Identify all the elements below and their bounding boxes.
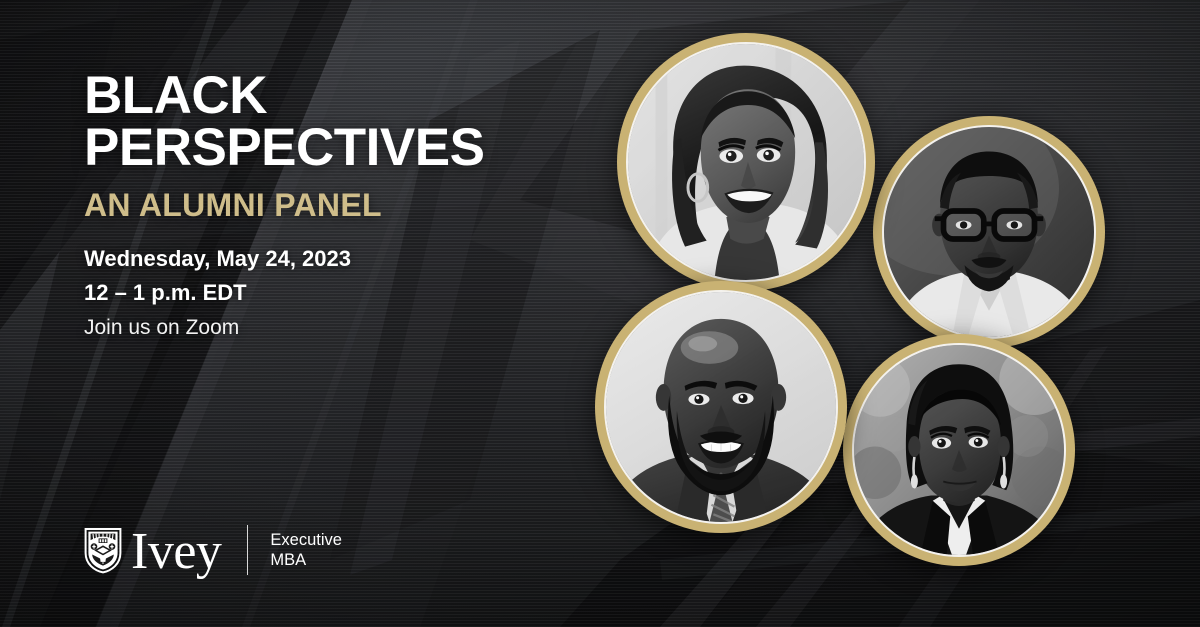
ivey-wordmark: Ivey bbox=[131, 526, 221, 578]
black-perspectives-event-banner: BLACK PERSPECTIVES AN ALUMNI PANEL Wedne… bbox=[0, 0, 1200, 627]
event-join-info: Join us on Zoom bbox=[84, 317, 351, 338]
logo-divider bbox=[247, 525, 248, 575]
program-name-line-1: Executive bbox=[270, 530, 342, 550]
event-details: Wednesday, May 24, 2023 12 – 1 p.m. EDT … bbox=[84, 248, 351, 338]
portrait-inner-ring-bottom-left bbox=[604, 290, 838, 524]
portrait-photo-bottom-left bbox=[606, 292, 836, 522]
program-name: Executive MBA bbox=[270, 530, 342, 570]
portrait-photo-bottom-right bbox=[854, 345, 1064, 555]
portrait-photo-top-left bbox=[628, 44, 864, 280]
western-university-shield-crest-icon bbox=[84, 527, 122, 574]
panelist-portrait-bottom-right bbox=[843, 334, 1075, 566]
page-title: BLACK PERSPECTIVES bbox=[84, 70, 484, 175]
panelist-portrait-top-left bbox=[617, 33, 875, 291]
event-time: 12 – 1 p.m. EDT bbox=[84, 282, 351, 304]
portrait-inner-ring-bottom-right bbox=[852, 343, 1066, 557]
event-date: Wednesday, May 24, 2023 bbox=[84, 248, 351, 270]
headline-line-2: PERSPECTIVES bbox=[84, 122, 484, 174]
panelist-portrait-bottom-left bbox=[595, 281, 847, 533]
panelist-portrait-top-right bbox=[873, 116, 1105, 348]
subtitle: AN ALUMNI PANEL bbox=[84, 189, 382, 221]
program-name-line-2: MBA bbox=[270, 550, 342, 570]
portrait-inner-ring-top-left bbox=[626, 42, 866, 282]
ivey-executive-mba-logo: Ivey Executive MBA bbox=[84, 524, 342, 576]
headline-line-1: BLACK bbox=[84, 70, 484, 122]
portrait-inner-ring-top-right bbox=[882, 125, 1096, 339]
portrait-photo-top-right bbox=[884, 127, 1094, 337]
